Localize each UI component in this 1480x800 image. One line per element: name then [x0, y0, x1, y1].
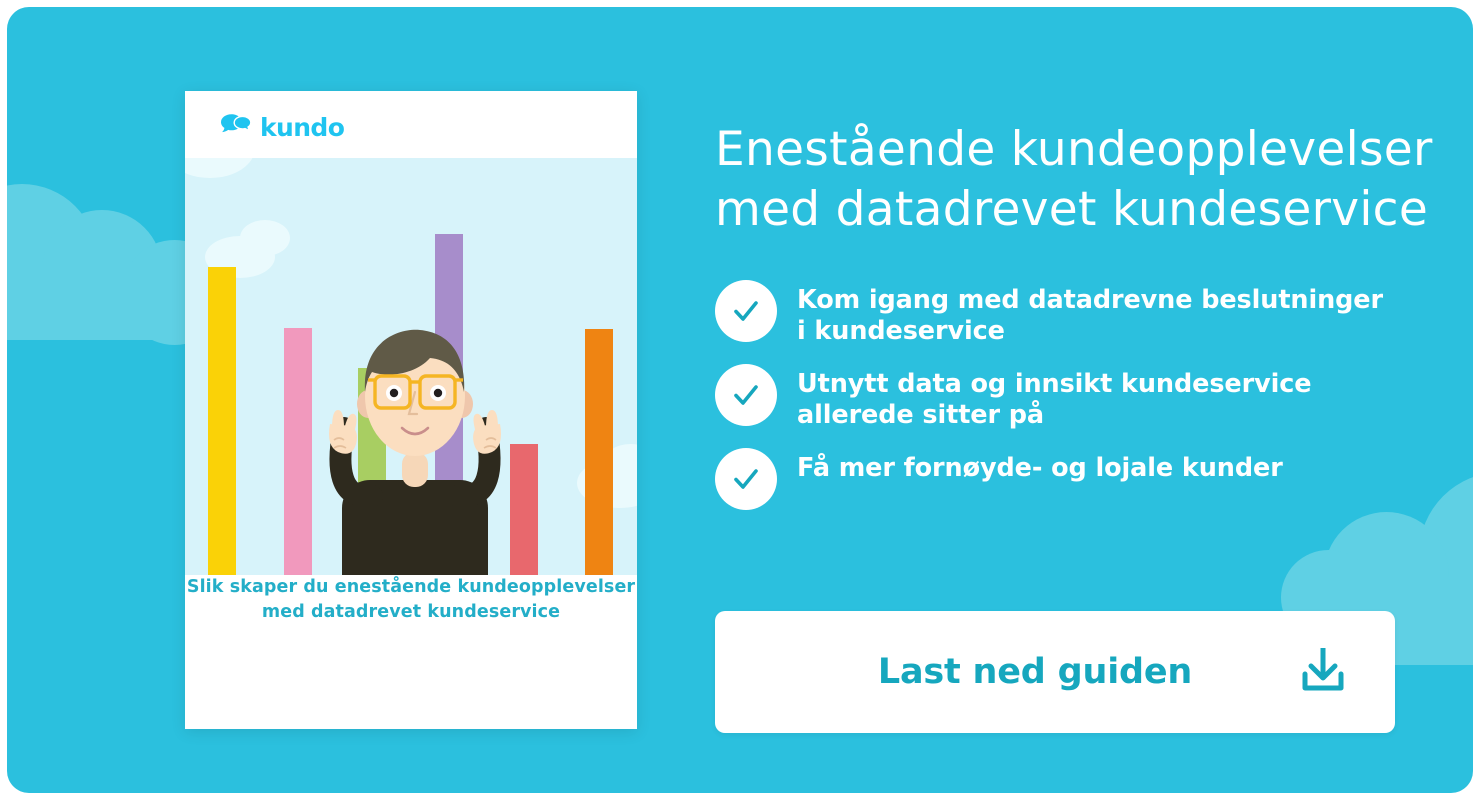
chart-bar-1 [208, 267, 236, 575]
cover-title-line2: med datadrevet kundeservice [185, 600, 637, 625]
person-illustration [310, 300, 520, 575]
cover-title: Slik skaper du enestående kundeopplevels… [185, 575, 637, 625]
speech-bubbles-icon [220, 113, 254, 142]
check-icon [715, 448, 777, 510]
download-guide-label: Last ned guiden [715, 652, 1295, 692]
list-item: Kom igang med datadrevne beslutninger i … [715, 280, 1455, 347]
illustration-cloud-3 [240, 220, 290, 256]
chart-bar-6 [585, 329, 613, 575]
bullet-2-line1: Utnytt data og innsikt kundeservice [797, 369, 1311, 399]
bullet-2-line2: allerede sitter på [797, 400, 1044, 430]
list-item: Få mer fornøyde- og lojale kunder [715, 448, 1455, 510]
content-panel: Enestående kundeopplevelser med datadrev… [707, 7, 1467, 793]
promo-banner: kundo [7, 7, 1473, 793]
list-item-label: Utnytt data og innsikt kundeservice alle… [797, 364, 1311, 431]
download-icon [1295, 642, 1351, 703]
list-item: Utnytt data og innsikt kundeservice alle… [715, 364, 1455, 431]
illustration-cloud-1 [185, 158, 255, 178]
bullet-3-line1: Få mer fornøyde- og lojale kunder [797, 453, 1283, 483]
kundo-logo: kundo [220, 113, 344, 142]
guide-cover-image: kundo [185, 91, 637, 729]
list-item-label: Kom igang med datadrevne beslutninger i … [797, 280, 1383, 347]
benefits-list: Kom igang med datadrevne beslutninger i … [715, 280, 1455, 527]
cover-title-line1: Slik skaper du enestående kundeopplevels… [187, 577, 635, 597]
check-icon [715, 364, 777, 426]
list-item-label: Få mer fornøyde- og lojale kunder [797, 448, 1283, 484]
headline-line1: Enestående kundeopplevelser [715, 122, 1433, 177]
page-title: Enestående kundeopplevelser med datadrev… [715, 120, 1455, 240]
kundo-logo-text: kundo [260, 113, 344, 142]
bullet-1-line2: i kundeservice [797, 316, 1005, 346]
check-icon [715, 280, 777, 342]
cover-illustration [185, 158, 637, 575]
chart-bar-2 [284, 328, 312, 575]
bullet-1-line1: Kom igang med datadrevne beslutninger [797, 285, 1383, 315]
download-guide-button[interactable]: Last ned guiden [715, 611, 1395, 733]
cover-header: kundo [185, 91, 637, 158]
headline-line2: med datadrevet kundeservice [715, 180, 1455, 240]
